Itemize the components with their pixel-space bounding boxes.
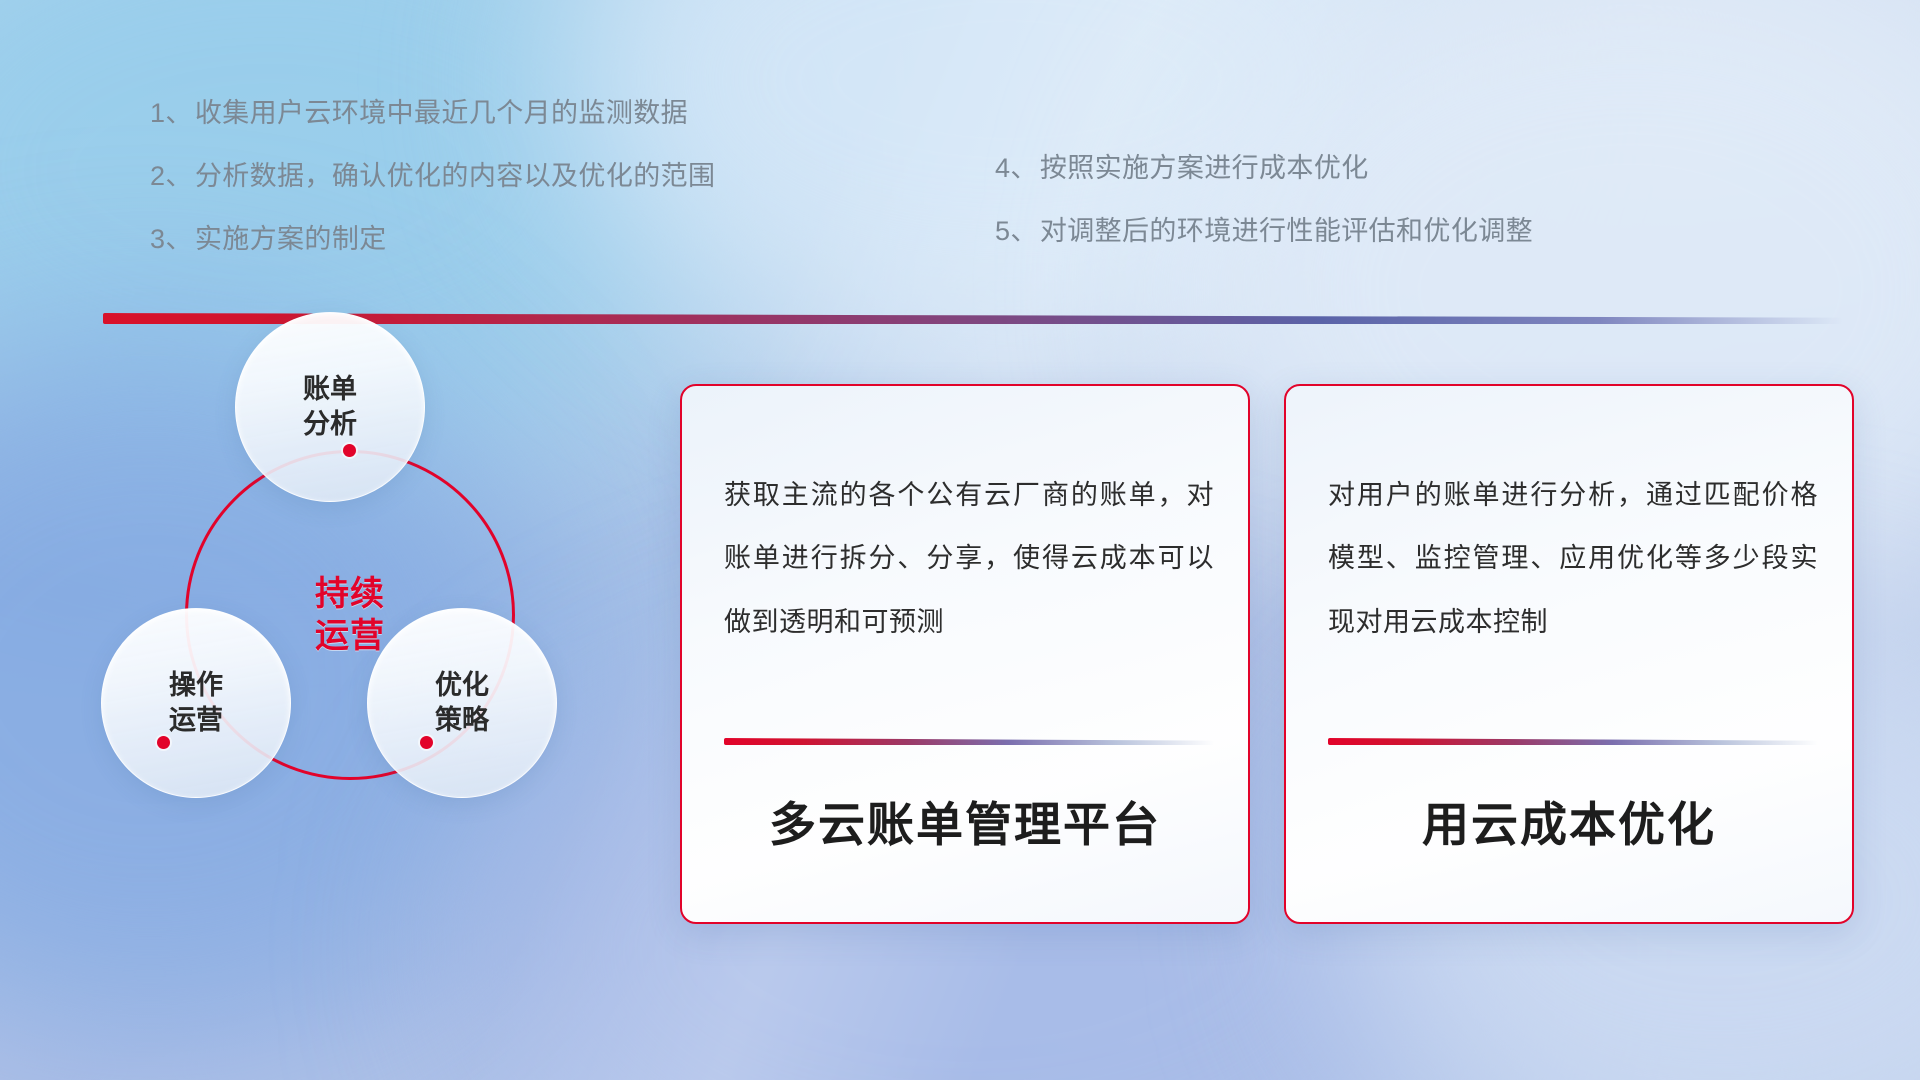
venn-node-dot-icon — [343, 444, 356, 457]
list-item: 1、收集用户云环境中最近几个月的监测数据 — [150, 100, 715, 127]
card-title: 多云账单管理平台 — [682, 786, 1248, 855]
card-multicloud-billing-platform[interactable]: 获取主流的各个公有云厂商的账单，对账单进行拆分、分享，使得云成本可以做到透明和可… — [680, 384, 1250, 924]
list-item-label: 分析数据，确认优化的内容以及优化的范围 — [195, 161, 716, 191]
venn-node-operations[interactable]: 操作 运营 — [101, 608, 291, 798]
list-item-number: 4、 — [995, 153, 1038, 183]
list-item-number: 2、 — [150, 161, 193, 191]
list-item-label: 对调整后的环境进行性能评估和优化调整 — [1040, 216, 1533, 246]
list-item: 4、按照实施方案进行成本优化 — [995, 155, 1533, 182]
card-body-text: 获取主流的各个公有云厂商的账单，对账单进行拆分、分享，使得云成本可以做到透明和可… — [724, 464, 1214, 654]
card-body-text: 对用户的账单进行分析，通过匹配价格模型、监控管理、应用优化等多少段实现对用云成本… — [1328, 464, 1818, 654]
venn-node-billing-analysis[interactable]: 账单 分析 — [235, 312, 425, 502]
list-item-number: 3、 — [150, 224, 193, 254]
list-item: 2、分析数据，确认优化的内容以及优化的范围 — [150, 163, 715, 190]
list-item-label: 实施方案的制定 — [195, 224, 387, 254]
steps-right-column: 4、按照实施方案进行成本优化 5、对调整后的环境进行性能评估和优化调整 — [995, 155, 1533, 281]
venn-node-line1: 操作 — [169, 668, 223, 703]
venn-node-line2: 运营 — [169, 703, 223, 738]
list-item: 3、实施方案的制定 — [150, 226, 715, 253]
list-item-label: 按照实施方案进行成本优化 — [1040, 153, 1369, 183]
list-item-number: 1、 — [150, 98, 193, 128]
venn-node-line2: 策略 — [435, 703, 489, 738]
venn-node-dot-icon — [157, 736, 170, 749]
venn-center-line1: 持续 — [315, 573, 385, 616]
list-item-number: 5、 — [995, 216, 1038, 246]
venn-node-optimization-strategy[interactable]: 优化 策略 — [367, 608, 557, 798]
card-cloud-cost-optimization[interactable]: 对用户的账单进行分析，通过匹配价格模型、监控管理、应用优化等多少段实现对用云成本… — [1284, 384, 1854, 924]
steps-left-column: 1、收集用户云环境中最近几个月的监测数据 2、分析数据，确认优化的内容以及优化的… — [150, 100, 715, 289]
list-item-label: 收集用户云环境中最近几个月的监测数据 — [195, 98, 688, 128]
card-divider — [724, 738, 1214, 745]
venn-node-line2: 分析 — [303, 407, 357, 442]
list-item: 5、对调整后的环境进行性能评估和优化调整 — [995, 218, 1533, 245]
venn-node-line1: 优化 — [435, 668, 489, 703]
card-title: 用云成本优化 — [1286, 786, 1852, 855]
venn-diagram: 持续 运营 账单 分析 操作 运营 优化 策略 — [95, 340, 615, 940]
venn-node-dot-icon — [420, 736, 433, 749]
card-divider — [1328, 738, 1818, 745]
venn-center-line2: 运营 — [315, 615, 385, 658]
venn-node-line1: 账单 — [303, 372, 357, 407]
